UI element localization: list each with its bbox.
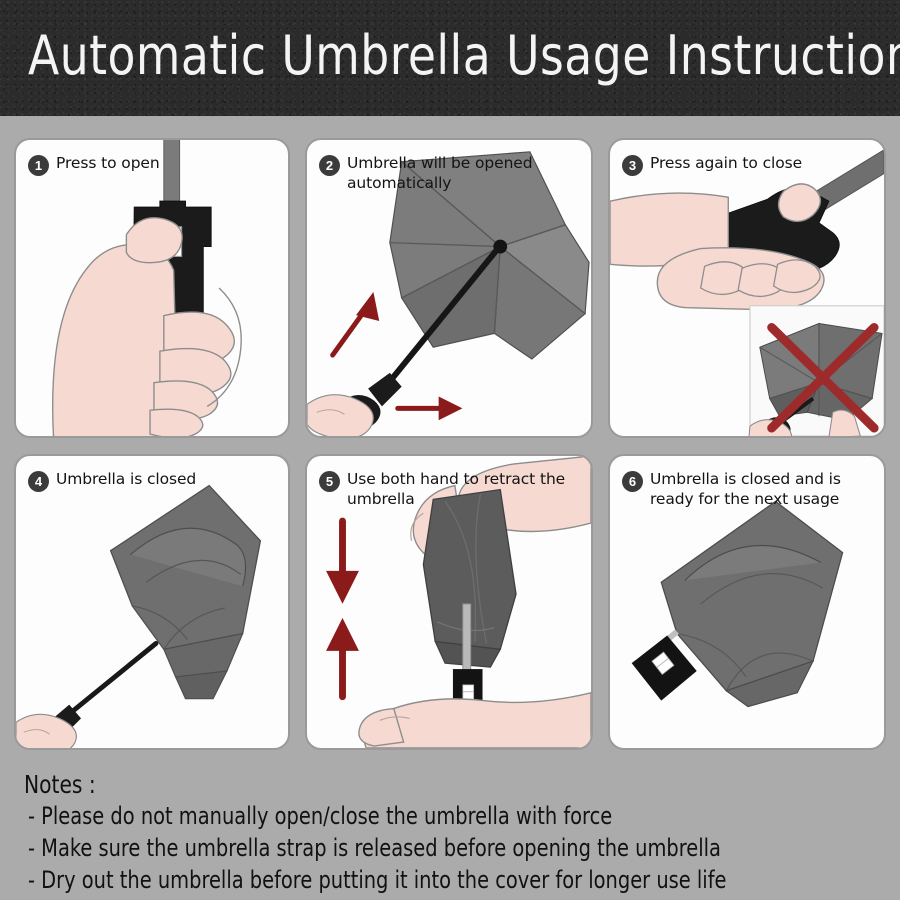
instruction-poster: Automatic Umbrella Usage Instruction <box>0 0 900 900</box>
step-3-illustration <box>610 140 884 436</box>
step-6-illustration <box>610 456 884 748</box>
page-title: Automatic Umbrella Usage Instruction <box>28 24 900 87</box>
step-5-illustration <box>307 456 591 748</box>
step-panel-2: 2 Umbrella will be opened automatically <box>305 138 593 438</box>
header-banner: Automatic Umbrella Usage Instruction <box>0 0 900 116</box>
step-panel-5: 5 Use both hand to retract the umbrella <box>305 454 593 750</box>
step-1-illustration <box>16 140 288 436</box>
arrow-down-icon <box>332 521 354 596</box>
step-panel-1: 1 Press to open <box>14 138 290 438</box>
step-panel-6: 6 Umbrella is closed and is ready for th… <box>608 454 886 750</box>
note-item-3: - Dry out the umbrella before putting it… <box>28 865 793 897</box>
steps-grid: 1 Press to open <box>0 120 900 760</box>
notes-title: Notes : <box>24 770 793 799</box>
note-item-2: - Make sure the umbrella strap is releas… <box>28 833 793 865</box>
step-panel-3: 3 Press again to close <box>608 138 886 438</box>
notes-section: Notes : - Please do not manually open/cl… <box>0 762 900 900</box>
step-4-illustration <box>16 456 288 748</box>
step-panel-4: 4 Umbrella is closed <box>14 454 290 750</box>
note-item-1: - Please do not manually open/close the … <box>28 801 793 833</box>
step-2-illustration <box>307 140 591 436</box>
arrow-up-icon <box>332 626 354 697</box>
